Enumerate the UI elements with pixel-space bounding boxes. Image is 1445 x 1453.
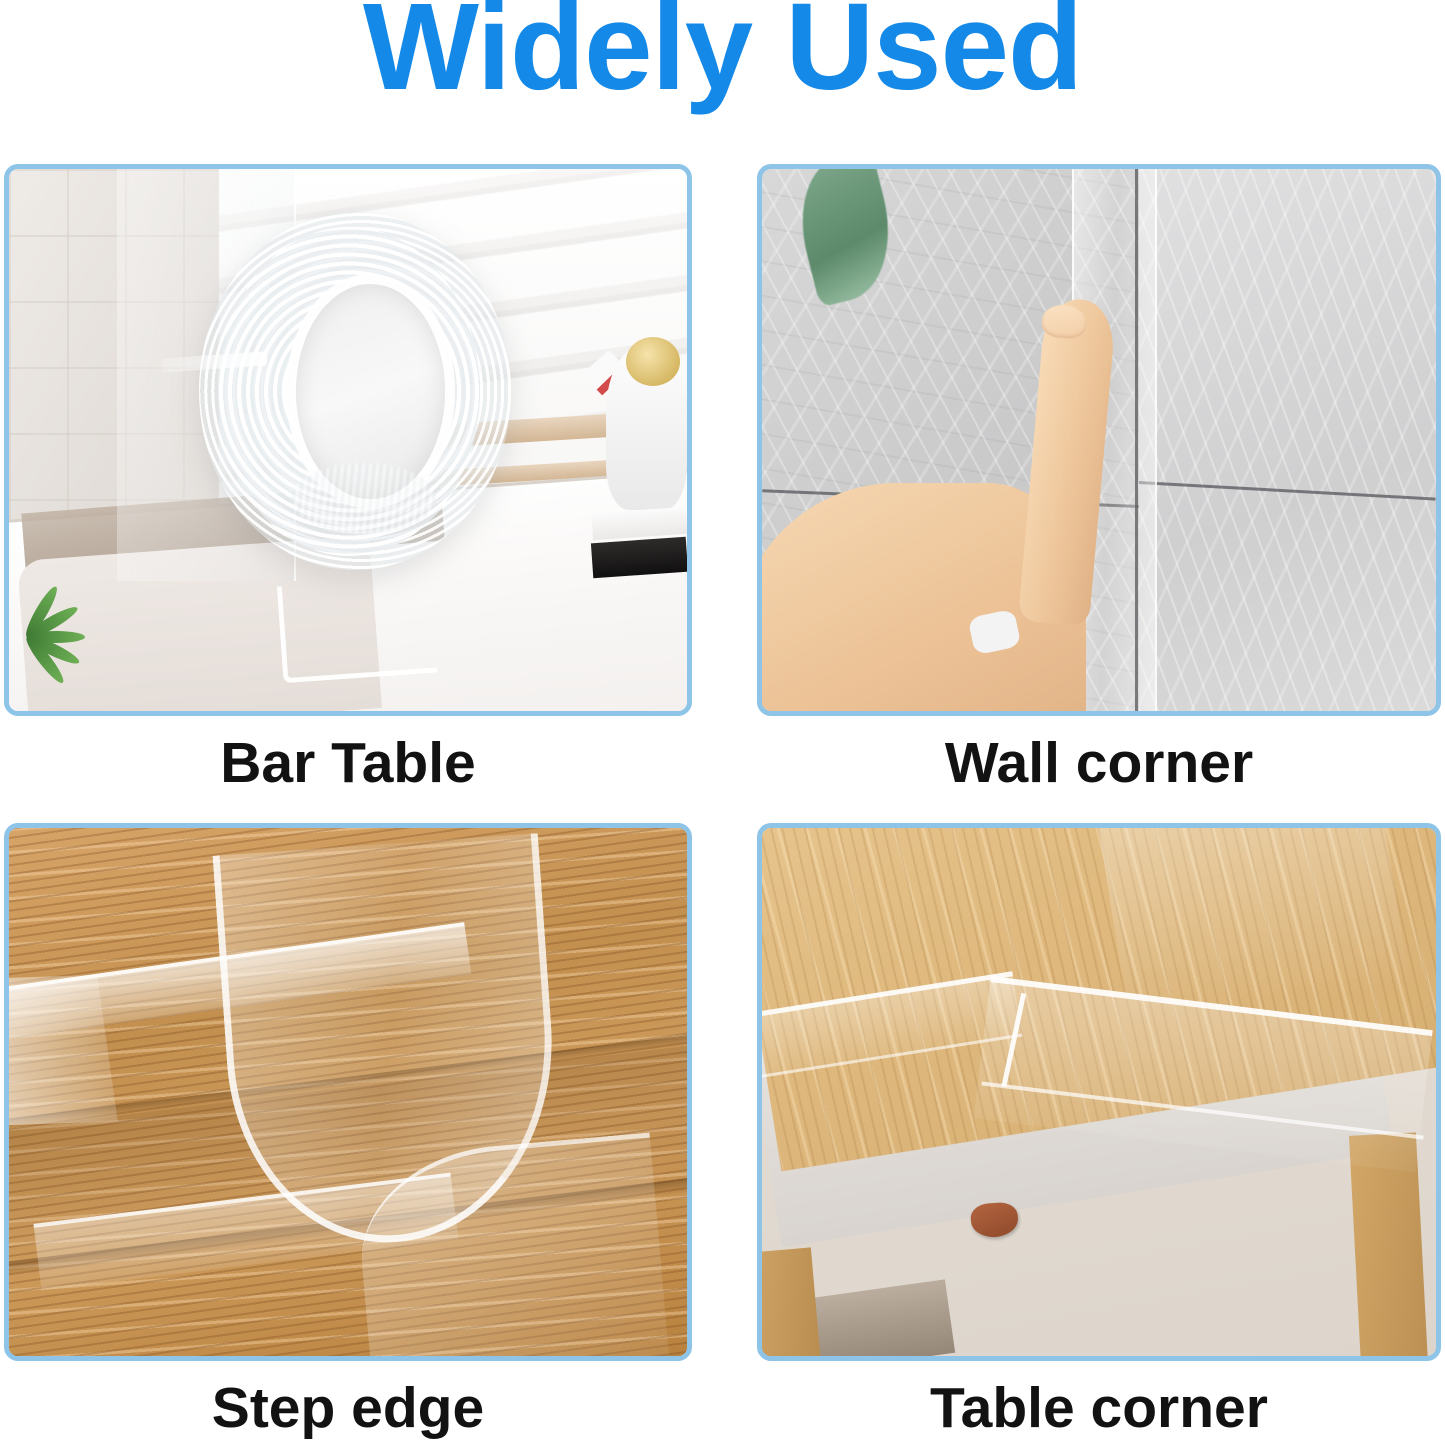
panel-table-corner: Table corner (757, 823, 1441, 1361)
tape-roll (199, 212, 511, 570)
page-title: Widely Used (0, 0, 1445, 109)
drawer-knob[interactable] (970, 1201, 1019, 1239)
photo-table-corner (757, 823, 1441, 1361)
panel-bar-table: Bar Table (4, 164, 692, 716)
photo-wall-corner (757, 164, 1441, 716)
potted-plant (4, 570, 117, 716)
caption-step-edge: Step edge (4, 1375, 692, 1441)
panel-step-edge: Step edge (4, 823, 692, 1361)
caption-bar-table: Bar Table (4, 730, 692, 796)
table-leg-left (757, 1248, 821, 1361)
panel-grid: Bar Table Wall corner (0, 160, 1445, 1453)
photo-step-edge (4, 823, 692, 1361)
applied-edge-strip (277, 576, 438, 684)
corner-joint-line (1135, 169, 1138, 711)
book-stack-dark (591, 537, 688, 579)
photo-bar-table (4, 164, 692, 716)
tape-roll-reflection (292, 463, 435, 535)
marble-veining (1139, 169, 1436, 711)
astronaut-helmet (626, 337, 680, 386)
caption-table-corner: Table corner (757, 1375, 1441, 1441)
panel-wall-corner: Wall corner (757, 164, 1441, 716)
caption-wall-corner: Wall corner (757, 730, 1441, 796)
marble-tile-right (1139, 169, 1436, 711)
